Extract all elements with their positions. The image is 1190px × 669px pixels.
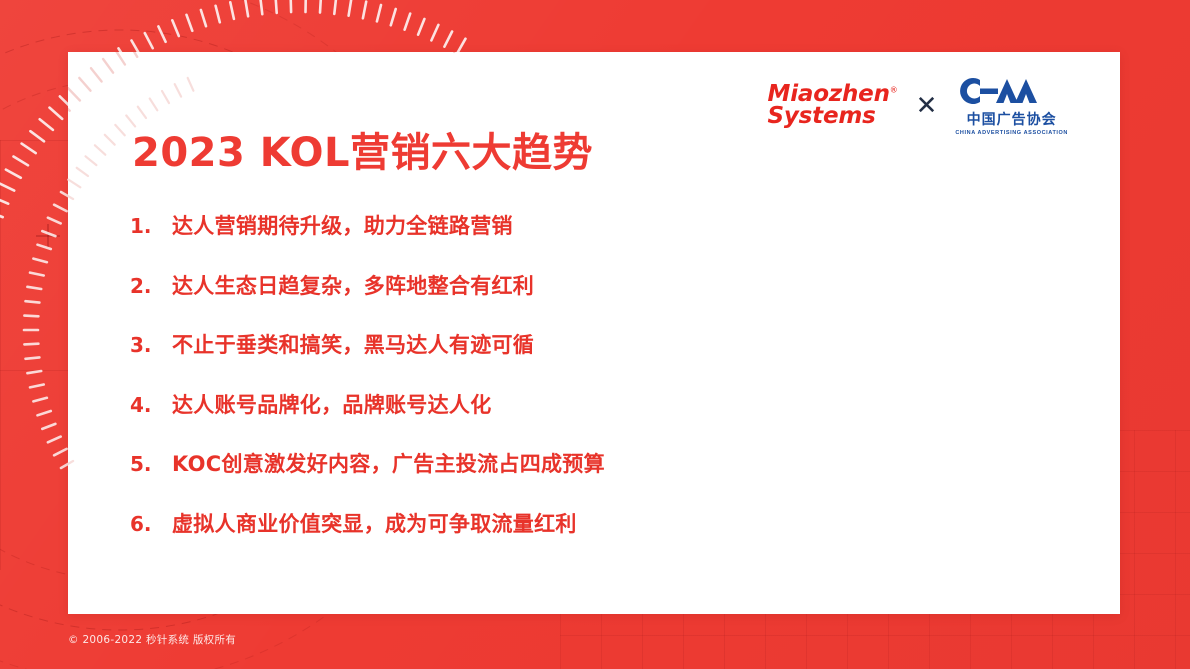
caa-acronym-icon (955, 74, 1051, 108)
list-item: 4. 达人账号品牌化，品牌账号达人化 (130, 389, 1030, 449)
content-card: Miaozhen® Systems ✕ 中国广告协会 CHINA ADVERTI… (68, 52, 1120, 614)
registered-trademark-icon: ® (890, 85, 898, 94)
list-item: 6. 虚拟人商业价值突显，成为可争取流量红利 (130, 508, 1030, 568)
miaozhen-logo-line2: Systems (768, 105, 898, 127)
list-item: 5. KOC创意激发好内容，广告主投流占四成预算 (130, 448, 1030, 508)
list-item-label: 不止于垂类和搞笑，黑马达人有迹可循 (172, 329, 534, 359)
caa-logo: 中国广告协会 CHINA ADVERTISING ASSOCIATION (955, 74, 1068, 136)
list-item-label: 达人生态日趋复杂，多阵地整合有红利 (172, 270, 534, 300)
list-item-number: 3. (130, 333, 172, 357)
list-item-number: 2. (130, 274, 172, 298)
list-item-label: 达人账号品牌化，品牌账号达人化 (172, 389, 492, 419)
list-item-label: 虚拟人商业价值突显，成为可争取流量红利 (172, 508, 577, 538)
miaozhen-logo: Miaozhen® Systems (768, 83, 898, 127)
list-item-label: KOC创意激发好内容，广告主投流占四成预算 (172, 448, 605, 478)
list-item-label: 达人营销期待升级，助力全链路营销 (172, 210, 513, 240)
trend-list: 1. 达人营销期待升级，助力全链路营销 2. 达人生态日趋复杂，多阵地整合有红利… (130, 210, 1030, 567)
list-item-number: 6. (130, 512, 172, 536)
caa-logo-chinese: 中国广告协会 (955, 109, 1068, 129)
copyright-footer: © 2006-2022 秒针系统 版权所有 (68, 632, 236, 647)
caa-logo-english: CHINA ADVERTISING ASSOCIATION (955, 130, 1068, 136)
crosshair-marker-icon (36, 224, 60, 248)
list-item-number: 5. (130, 452, 172, 476)
list-item-number: 1. (130, 214, 172, 238)
list-item: 2. 达人生态日趋复杂，多阵地整合有红利 (130, 270, 1030, 330)
miaozhen-logo-line1: Miaozhen (768, 81, 890, 107)
list-item: 3. 不止于垂类和搞笑，黑马达人有迹可循 (130, 329, 1030, 389)
slide-canvas: Miaozhen® Systems ✕ 中国广告协会 CHINA ADVERTI… (0, 0, 1190, 669)
list-item: 1. 达人营销期待升级，助力全链路营销 (130, 210, 1030, 270)
logo-row: Miaozhen® Systems ✕ 中国广告协会 CHINA ADVERTI… (768, 74, 1068, 136)
logo-separator-x-icon: ✕ (916, 92, 938, 118)
page-title: 2023 KOL营销六大趋势 (132, 120, 593, 178)
list-item-number: 4. (130, 393, 172, 417)
